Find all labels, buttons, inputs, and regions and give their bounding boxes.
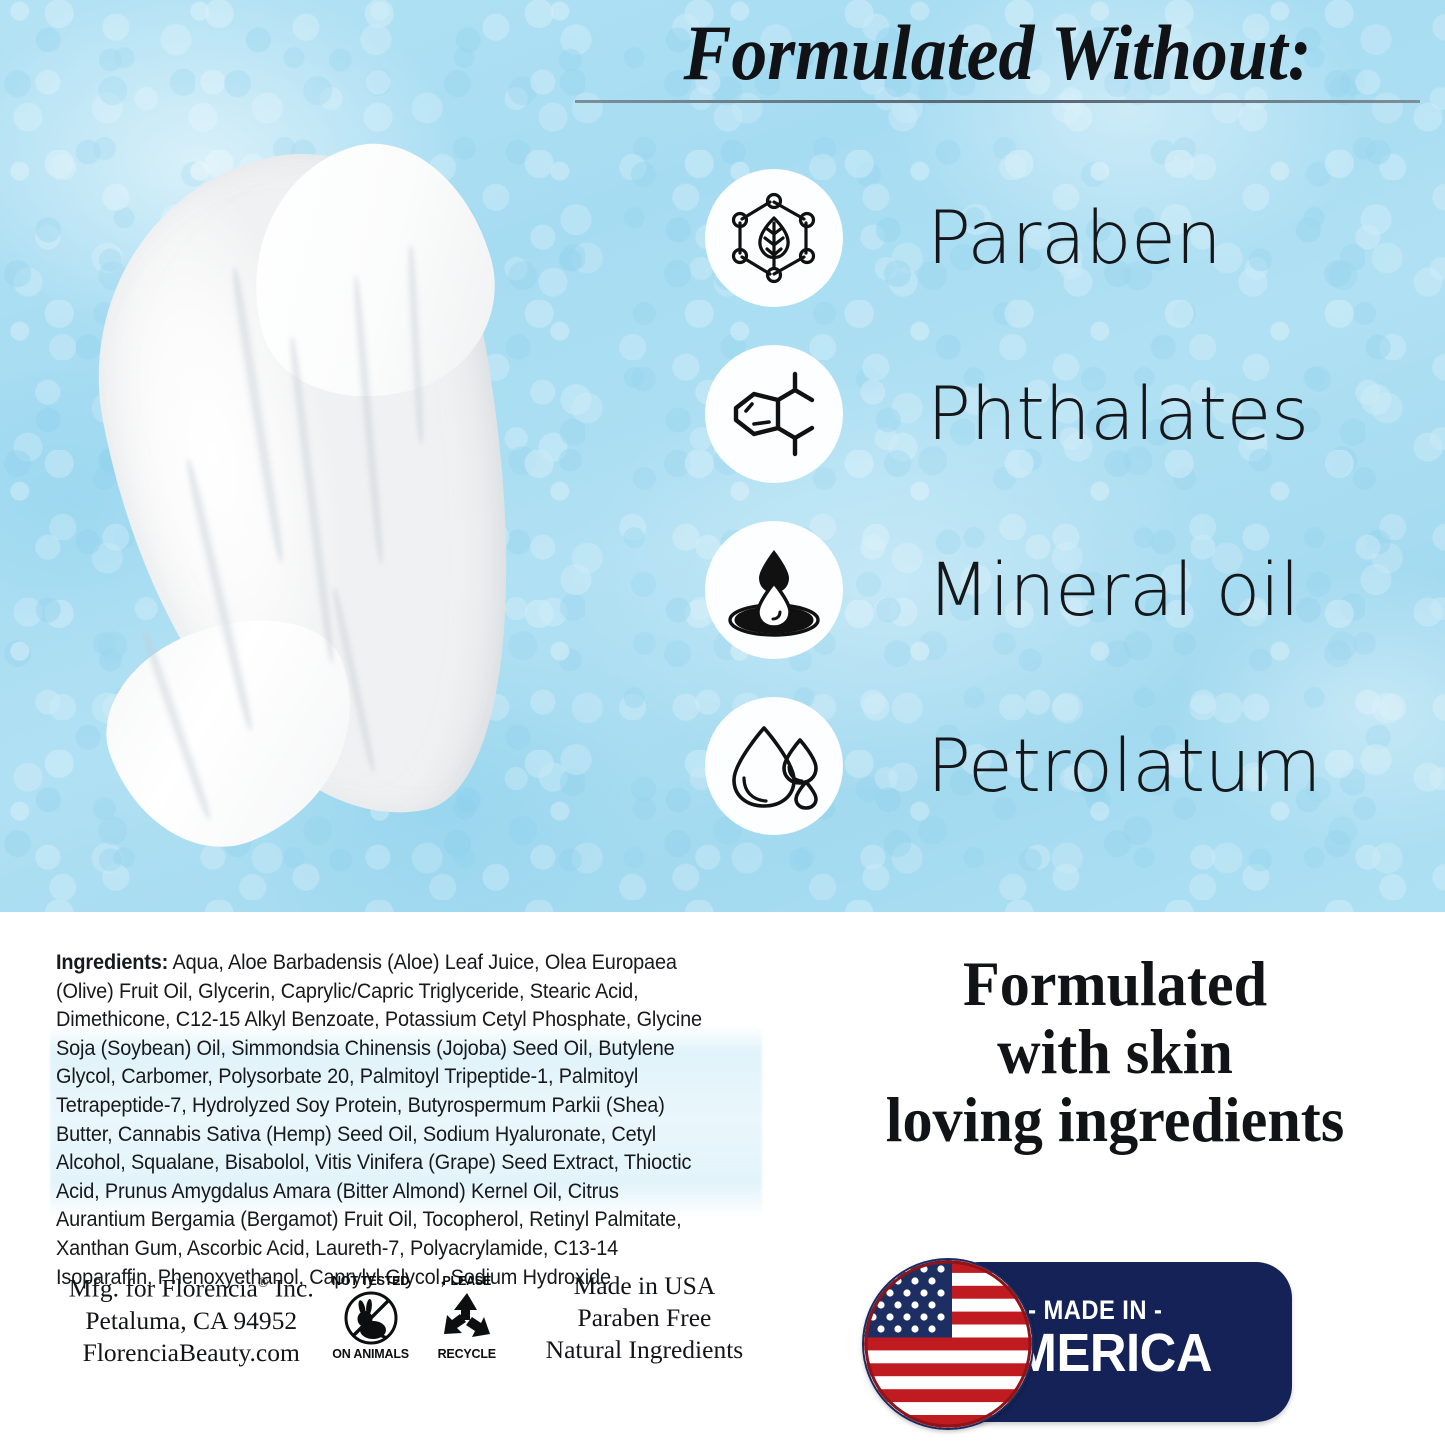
ingredients-heading: Ingredients:: [56, 950, 168, 974]
infographic-page: Formulated Without:: [0, 0, 1445, 1445]
product-claims: Made in USA Paraben Free Natural Ingredi…: [529, 1270, 760, 1366]
benefit-row-petrolatum: Petrolatum: [705, 678, 1435, 854]
header: Formulated Without:: [575, 14, 1420, 103]
claim-made-in-usa: Made in USA: [529, 1270, 760, 1302]
benefit-row-mineral-oil: Mineral oil: [705, 502, 1435, 678]
recycle-badge: PLEASE RECYCLE: [425, 1275, 509, 1361]
cruelty-free-badge: NOT TESTED ON ANIMALS: [328, 1275, 412, 1361]
manufacturer-name: Mfg. for Florencia: [69, 1274, 258, 1303]
manufacturer-suffix: Inc.: [268, 1274, 313, 1303]
blue-watercolor-panel: Formulated Without:: [0, 0, 1445, 912]
us-flag-circle-icon: [862, 1258, 1034, 1430]
benefit-label: Petrolatum: [927, 730, 1321, 803]
claim-paraben-free: Paraben Free: [529, 1302, 760, 1334]
benefit-row-phthalates: Phthalates: [705, 326, 1435, 502]
registered-mark: ®: [258, 1276, 269, 1291]
molecule-leaf-icon: [705, 169, 843, 307]
manufacturer-address: Mfg. for Florencia® Inc. Petaluma, CA 94…: [60, 1268, 322, 1369]
made-in-label: - MADE IN -: [1028, 1295, 1162, 1325]
manufacturer-footer: Mfg. for Florencia® Inc. Petaluma, CA 94…: [60, 1268, 760, 1369]
headline-line-1: Formulated: [819, 950, 1411, 1018]
headline-line-2: with skin: [819, 1018, 1411, 1086]
header-divider: [575, 100, 1420, 103]
ingredients-block: Ingredients: Aqua, Aloe Barbadensis (Alo…: [56, 948, 756, 1291]
page-title: Formulated Without:: [609, 14, 1386, 92]
headline-line-3: loving ingredients: [819, 1086, 1411, 1154]
rabbit-no-testing-icon: [340, 1290, 402, 1346]
benefit-label: Paraben: [927, 202, 1221, 275]
benefit-label: Phthalates: [927, 378, 1309, 451]
manufacturer-line-2: Petaluma, CA 94952: [60, 1305, 322, 1337]
benefit-row-paraben: Paraben: [705, 150, 1435, 326]
benzene-ring-icon: [705, 345, 843, 483]
oil-droplet-pool-icon: [705, 521, 843, 659]
ingredients-body: Aqua, Aloe Barbadensis (Aloe) Leaf Juice…: [56, 950, 702, 1289]
manufacturer-line-1: Mfg. for Florencia® Inc.: [60, 1268, 322, 1305]
recycle-bottom-label: RECYCLE: [425, 1348, 509, 1361]
cruelty-free-top-label: NOT TESTED: [328, 1275, 412, 1288]
water-droplets-icon: [705, 697, 843, 835]
cruelty-free-bottom-label: ON ANIMALS: [328, 1348, 412, 1361]
cream-swatch-image: [100, 155, 550, 835]
recycle-triangle-icon: [437, 1290, 497, 1346]
made-in-america-badge: - MADE IN - AMERICA: [862, 1258, 1292, 1434]
manufacturer-website[interactable]: FlorenciaBeauty.com: [60, 1337, 322, 1369]
ingredients-text: Ingredients: Aqua, Aloe Barbadensis (Alo…: [56, 948, 707, 1291]
free-from-list: Paraben: [705, 150, 1435, 854]
benefit-label: Mineral oil: [927, 554, 1299, 627]
claim-natural-ingredients: Natural Ingredients: [529, 1334, 760, 1366]
recycle-top-label: PLEASE: [425, 1275, 509, 1288]
right-headline: Formulated with skin loving ingredients: [819, 950, 1411, 1154]
